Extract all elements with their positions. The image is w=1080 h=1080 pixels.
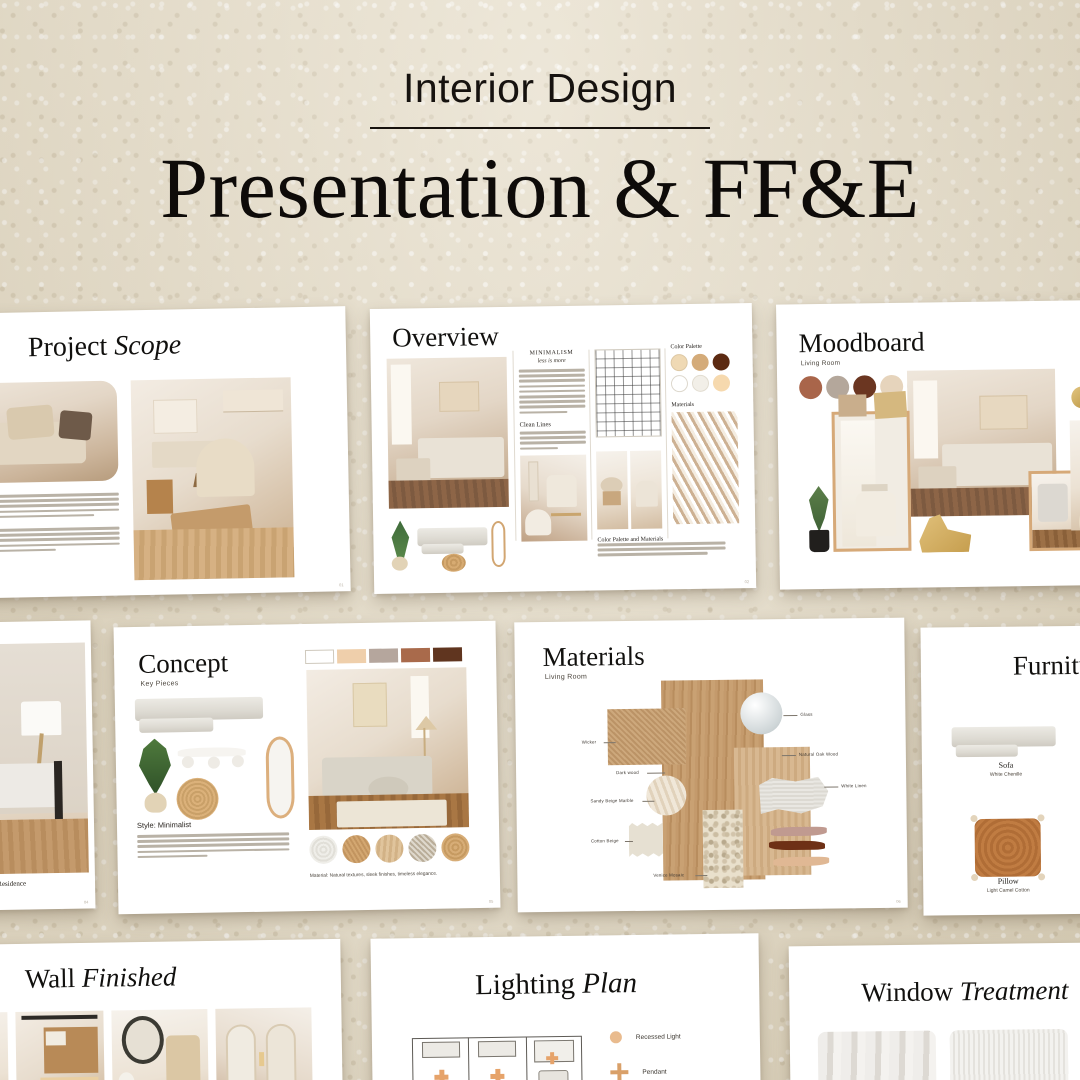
slide-project-scope[interactable]: Project Scope <box>0 306 351 599</box>
moodboard-gold-heels <box>919 514 972 553</box>
material-wicker <box>607 708 686 765</box>
moodboard-sconce <box>1071 386 1080 410</box>
material-label-wicker: Wicker <box>582 739 597 744</box>
title-regular: Moodboard <box>798 327 924 359</box>
minimalism-body <box>519 369 586 414</box>
hero-divider <box>370 127 710 129</box>
slide-title-moodboard: Moodboard <box>798 329 924 358</box>
swatch-dark-brown <box>433 647 462 662</box>
recessed-light-icon <box>490 1069 504 1080</box>
concept-jute-rug <box>176 778 219 821</box>
slide-concept[interactable]: Concept Key Pieces <box>114 621 501 915</box>
material-white-linen <box>756 777 828 816</box>
overview-text-column: MINIMALISM less is more Clean Lines <box>518 350 587 542</box>
recessed-light-icon <box>434 1070 448 1080</box>
materials-subtitle: Living Room <box>545 674 587 682</box>
material-brush-brown <box>769 841 825 851</box>
photo-concept-render <box>306 667 469 830</box>
photo-wall-3 <box>111 1009 209 1080</box>
title-regular: Concept <box>138 647 228 679</box>
slide-jacks-residence[interactable]: Jack's Residence 04 <box>0 620 95 911</box>
minimalism-script: less is more <box>519 358 585 365</box>
title-regular: Furniture <box>1013 650 1080 681</box>
page-number: 02 <box>745 579 750 584</box>
label-color-palette: Color Palette <box>670 343 736 350</box>
lighting-legend: Recessed Light Pendant Floor Lamp <box>610 1030 682 1080</box>
material-glass <box>740 692 783 735</box>
slide-title-lighting-plan: Lighting Plan <box>475 969 637 1000</box>
slide-title-project-scope: Project Scope <box>28 331 182 362</box>
swatch-mauve <box>369 648 398 663</box>
clean-lines-heading: Clean Lines <box>520 421 586 429</box>
slide-title-wall-finished: Wall Finished <box>25 963 177 992</box>
legend-label-pendant: Pendant <box>642 1068 666 1075</box>
moodboard-frame <box>832 411 912 552</box>
material-label-glass: Glass <box>800 712 812 717</box>
photo-jacks-residence <box>0 643 89 876</box>
photo-curved-chair <box>630 450 662 528</box>
concept-subtitle: Key Pieces <box>140 680 178 688</box>
slide-overview[interactable]: Overview MINIMALISM le <box>370 303 756 594</box>
product-row-overview <box>387 513 514 575</box>
slide-furniture[interactable]: Furniture Sofa White Chenille Plant Bana… <box>921 624 1080 915</box>
page-number: 01 <box>339 582 344 587</box>
moodboard-plant <box>801 486 838 554</box>
photo-living-room-main <box>387 357 509 509</box>
texture-oak <box>375 834 403 862</box>
moodboard-subtitle: Living Room <box>801 360 841 368</box>
material-brush-mauve <box>771 827 827 837</box>
concept-plant <box>133 738 176 817</box>
jacks-residence-caption: Jack's Residence <box>0 878 95 889</box>
photo-lounge-chairs-right <box>131 377 295 580</box>
material-label-venice-mosaic: Venice Mosaic <box>653 872 684 877</box>
swatch-white <box>305 650 334 665</box>
photo-wall-2 <box>15 1011 105 1080</box>
photo-drapery-1 <box>818 1031 937 1080</box>
photo-moodboard-corner <box>1070 419 1080 530</box>
hero-subtitle: Interior Design <box>403 68 677 109</box>
title-regular: Overview <box>392 321 499 353</box>
material-texture-swatch <box>671 411 739 524</box>
slide-materials[interactable]: Materials Living Room Wicker <box>514 618 908 913</box>
title-italic: Plan <box>582 967 637 1000</box>
label-materials: Materials <box>671 401 737 408</box>
furniture-name-sofa: Sofa <box>952 760 1060 770</box>
concept-body <box>137 832 289 861</box>
slide-lighting-plan[interactable]: Lighting Plan <box>370 933 761 1080</box>
photo-living-room-left <box>0 381 119 484</box>
hero-title-block: Interior Design Presentation & FF&E <box>0 0 1080 300</box>
swatch-rust <box>799 376 822 399</box>
title-italic: Treatment <box>960 975 1069 1006</box>
color-palette-swatches <box>671 353 738 392</box>
title-regular: Project <box>28 331 115 364</box>
slide-title-materials: Materials <box>543 643 645 671</box>
photo-sheer-curtain-2 <box>950 1029 1069 1080</box>
material-sandy-beige-marble <box>646 775 686 815</box>
slide-title-window-treatment: Window Treatment <box>861 977 1068 1007</box>
clean-lines-body <box>520 431 586 450</box>
concept-material-caption: Material: Natural textures, sleek finish… <box>310 872 438 879</box>
photo-wall-1 <box>0 1012 9 1080</box>
furniture-detail-sofa: White Chenille <box>952 771 1060 778</box>
title-regular: Lighting <box>475 968 583 1001</box>
furniture-detail-plant: Banana leaf <box>1072 770 1080 777</box>
material-label-natural-oak-wood: Natural Oak Wood <box>799 751 838 756</box>
photo-side-table <box>596 451 628 529</box>
page-number: 04 <box>84 899 89 904</box>
title-regular: Wall <box>25 963 83 994</box>
furniture-name-pillow: Pillow <box>963 876 1053 886</box>
cpm-body <box>597 541 725 559</box>
title-italic: Scope <box>114 329 181 361</box>
wall-finish-gallery <box>0 1007 313 1080</box>
furniture-detail-ceiling: Metal base <box>1073 886 1080 893</box>
concept-texture-swatches <box>309 833 469 864</box>
legend-label-recessed-light: Recessed Light <box>636 1033 681 1041</box>
minimalism-heading: MINIMALISM <box>518 350 584 357</box>
scope-paragraph-1 <box>0 493 119 522</box>
slide-window-treatment[interactable]: Window Treatment 10 <box>789 942 1080 1080</box>
slide-title-concept: Concept <box>138 649 228 678</box>
window-treatment-gallery <box>818 1027 1080 1080</box>
concept-sofa-ottoman <box>139 718 213 733</box>
title-regular: Materials <box>542 641 644 672</box>
texture-boucle <box>309 835 337 863</box>
title-regular: Window <box>861 976 960 1007</box>
page-number: 05 <box>489 899 494 904</box>
overview-palette-column: Color Palette Materials <box>670 343 739 524</box>
texture-jute <box>441 833 469 861</box>
recessed-light-icon <box>610 1031 622 1043</box>
lighting-floor-plan <box>412 1036 584 1080</box>
material-venice-mosaic <box>703 810 744 888</box>
slide-title-furniture: Furniture <box>1013 652 1080 680</box>
furniture-item-pillow <box>972 816 1043 879</box>
texture-woven <box>408 834 436 862</box>
pendant-icon <box>610 1063 628 1080</box>
slide-wall-finished[interactable]: Wall Finished <box>0 939 344 1080</box>
photo-dining-nook <box>520 455 587 542</box>
recessed-light-icon <box>546 1052 558 1064</box>
material-label-sandy-beige-marble: Sandy Beige Marble <box>590 798 633 804</box>
concept-palette <box>305 647 462 664</box>
swatch-peach <box>337 649 366 664</box>
title-italic: Finished <box>82 961 177 992</box>
material-label-cotton-beige: Cotton Beige <box>591 838 619 843</box>
furniture-detail-pillow: Light Camel Cotton <box>958 887 1058 894</box>
concept-coffee-table <box>178 747 246 770</box>
slide-moodboard[interactable]: Moodboard Living Room <box>776 299 1080 589</box>
concept-wavy-mirror <box>265 736 294 818</box>
photo-wall-4 <box>215 1007 313 1080</box>
scope-paragraph-2 <box>0 527 120 556</box>
material-label-white-linen: White Linen <box>841 783 866 788</box>
swatch-rust <box>401 648 430 663</box>
slide-title-overview: Overview <box>392 323 499 352</box>
hero-title: Presentation & FF&E <box>160 145 920 233</box>
texture-rattan <box>342 835 370 863</box>
material-label-dark-wood: Dark wood <box>616 770 639 775</box>
overview-plan-column: Color Palette and Materials <box>594 348 663 543</box>
floor-plan-thumbnail <box>594 348 661 437</box>
page-number: 06 <box>896 899 901 904</box>
concept-style-label: Style: Minimalist <box>137 820 191 830</box>
material-brush-peach <box>773 857 829 867</box>
material-cotton-beige <box>629 823 663 857</box>
